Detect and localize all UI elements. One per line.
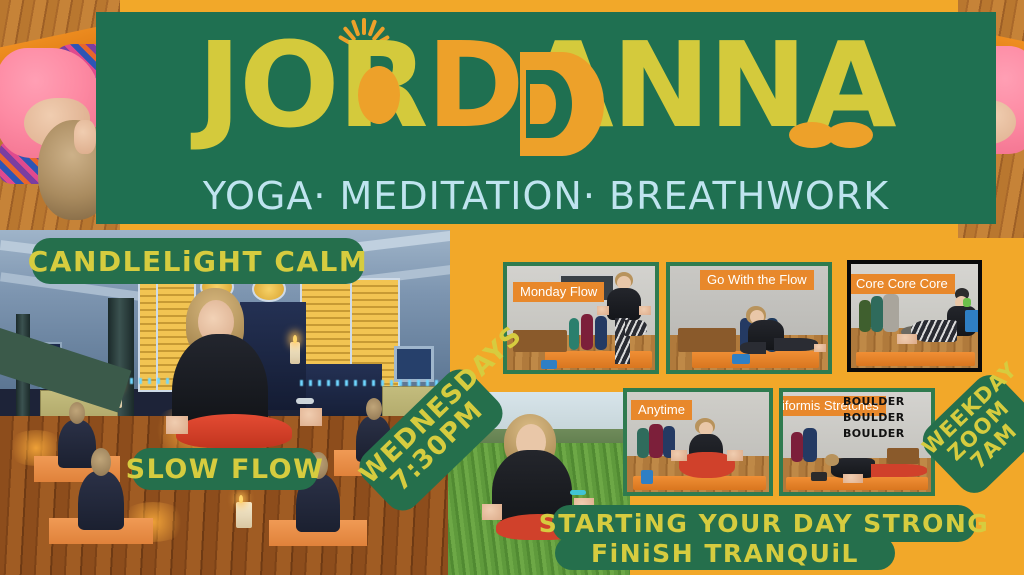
logo-n-squiggle	[789, 122, 873, 148]
thumbnail-label-chip: Go With the Flow	[700, 270, 814, 290]
brand-logo-banner: JORDANNA YOGA· MEDITATION· BREATHWORK	[96, 12, 996, 224]
video-thumbnail-anytime[interactable]: Anytime	[623, 388, 773, 496]
video-thumbnail-core-core-core[interactable]: Core Core Core	[847, 260, 982, 372]
poster-canvas: JORDANNA YOGA· MEDITATION· BREATHWORK Mo…	[0, 0, 1024, 575]
banner-finish-tranquil: FiNiSH TRANQUiL	[555, 536, 895, 570]
thumbnail-label-chip: Core Core Core	[849, 274, 955, 294]
banner-slow-flow: SLOW FLOW	[132, 448, 318, 490]
video-thumbnail-monday-flow[interactable]: Monday Flow	[503, 262, 659, 374]
video-thumbnail-piriformis-stretches[interactable]: iformis Stretches BOULDER BOULDER BOULDE…	[779, 388, 935, 496]
logo-d-spiral	[520, 52, 604, 156]
thumbnail-label-chip: Anytime	[631, 400, 692, 420]
video-thumbnail-go-with-the-flow[interactable]: Go With the Flow	[666, 262, 832, 374]
boulder-overlay: BOULDER BOULDER BOULDER	[843, 394, 905, 442]
boulder-line-2: BOULDER	[843, 410, 905, 426]
thumbnail-label-chip: Monday Flow	[513, 282, 604, 302]
banner-candlelight-calm: CANDLELiGHT CALM	[32, 238, 364, 284]
boulder-line-1: BOULDER	[843, 394, 905, 410]
boulder-line-3: BOULDER	[843, 426, 905, 442]
brand-subtitle: YOGA· MEDITATION· BREATHWORK	[96, 174, 996, 218]
logo-o-center-dot	[358, 66, 400, 124]
